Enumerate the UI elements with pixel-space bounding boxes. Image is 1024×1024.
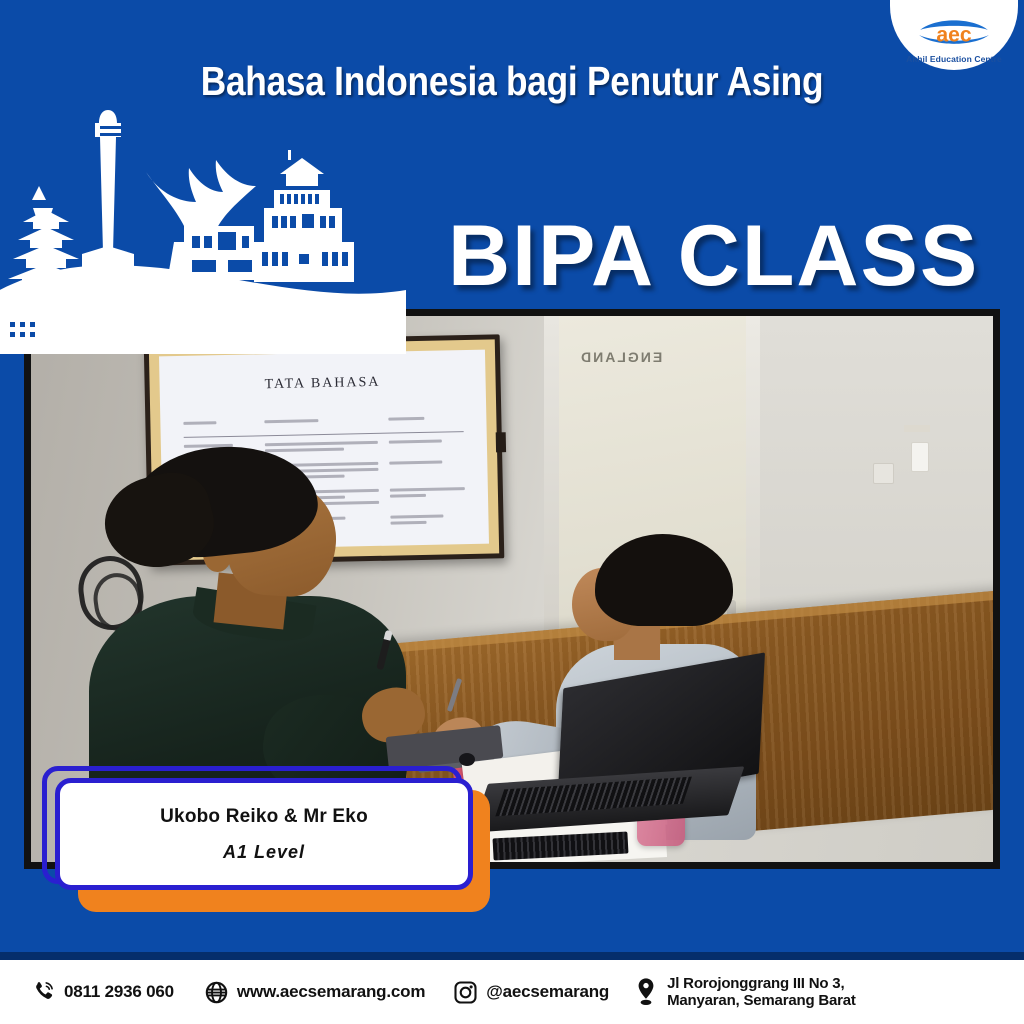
phone-icon [30, 979, 56, 1005]
door-sign-text: ENGLAND [579, 349, 662, 365]
contact-divider-rule [0, 952, 1024, 960]
brand-logo-badge: aec Akhil Education Centre [890, 0, 1018, 70]
aec-logo-icon: aec [917, 13, 991, 53]
contact-instagram[interactable]: @aecsemarang [453, 980, 609, 1005]
svg-text:aec: aec [936, 23, 971, 46]
instagram-icon [453, 980, 478, 1005]
poster-headline: Bahasa Indonesia bagi Penutur Asing [72, 58, 953, 105]
contact-address-text: Jl Rorojonggrang III No 3, Manyaran, Sem… [667, 975, 856, 1010]
light-switch [873, 463, 894, 484]
contact-instagram-text: @aecsemarang [486, 982, 609, 1002]
caption-card: Ukobo Reiko & Mr Eko A1 Level [55, 778, 473, 890]
screen-side-tab [496, 433, 506, 453]
globe-icon [204, 980, 229, 1005]
location-pin-icon [633, 977, 659, 1007]
thermostat-label [904, 425, 930, 432]
caption-names: Ukobo Reiko & Mr Eko [160, 806, 368, 828]
address-line-2: Manyaran, Semarang Barat [667, 992, 856, 1009]
contact-address[interactable]: Jl Rorojonggrang III No 3, Manyaran, Sem… [633, 975, 856, 1010]
contact-website[interactable]: www.aecsemarang.com [204, 980, 425, 1005]
contact-phone[interactable]: 0811 2936 060 [30, 979, 174, 1005]
ac-remote-holder [911, 442, 929, 472]
page-title: BIPA CLASS [448, 207, 979, 306]
student-hair [595, 534, 734, 626]
poster-canvas: aec Akhil Education Centre Bahasa Indone… [0, 0, 1024, 1024]
caption-level: A1 Level [223, 842, 305, 863]
address-line-1: Jl Rorojonggrang III No 3, [667, 975, 844, 992]
screen-title: TATA BAHASA [160, 373, 486, 396]
contact-website-text: www.aecsemarang.com [237, 982, 425, 1002]
contact-phone-text: 0811 2936 060 [64, 982, 174, 1002]
logo-subtitle: Akhil Education Centre [906, 54, 1002, 64]
contact-bar: 0811 2936 060 www.aecsemarang.com @aecse… [0, 960, 1024, 1024]
computer-mouse [459, 753, 475, 766]
